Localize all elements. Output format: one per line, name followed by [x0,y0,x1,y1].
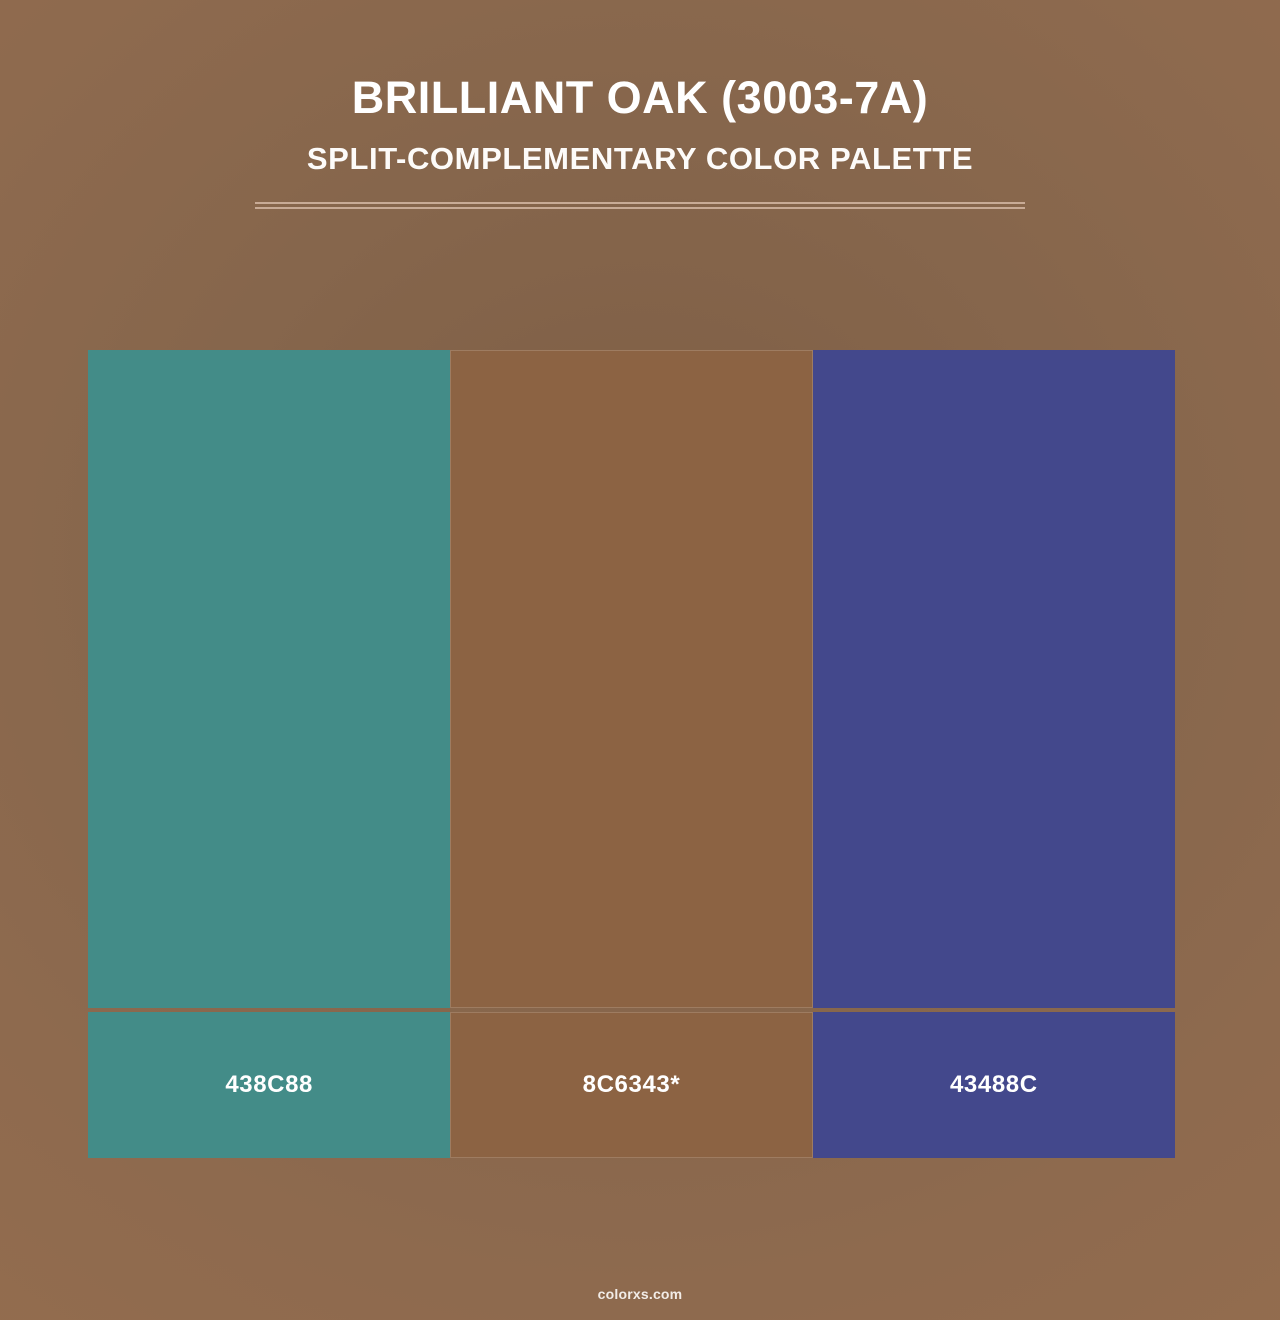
page-subtitle: SPLIT-COMPLEMENTARY COLOR PALETTE [0,143,1280,176]
color-swatch-1[interactable] [88,350,450,1008]
footer-site-label: colorxs.com [0,1286,1280,1302]
color-hex-label-2: 8C6343* [583,1073,681,1097]
divider [255,202,1025,209]
color-label-block-2[interactable]: 8C6343* [450,1012,812,1158]
page-title: BRILLIANT OAK (3003-7A) [0,74,1280,121]
color-swatch-3[interactable] [813,350,1175,1008]
color-swatch-2[interactable] [450,350,812,1008]
header: BRILLIANT OAK (3003-7A) SPLIT-COMPLEMENT… [0,0,1280,209]
color-label-block-1[interactable]: 438C88 [88,1012,450,1158]
swatch-column-1[interactable]: 438C88 [88,350,450,1158]
swatch-column-2[interactable]: 8C6343* [450,350,812,1158]
color-hex-label-3: 43488C [950,1073,1038,1097]
swatch-column-3[interactable]: 43488C [813,350,1175,1158]
color-palette: 438C88 8C6343* 43488C [88,350,1175,1158]
color-hex-label-1: 438C88 [225,1073,313,1097]
divider-rule-bottom [255,207,1025,209]
divider-rule-top [255,202,1025,204]
color-label-block-3[interactable]: 43488C [813,1012,1175,1158]
